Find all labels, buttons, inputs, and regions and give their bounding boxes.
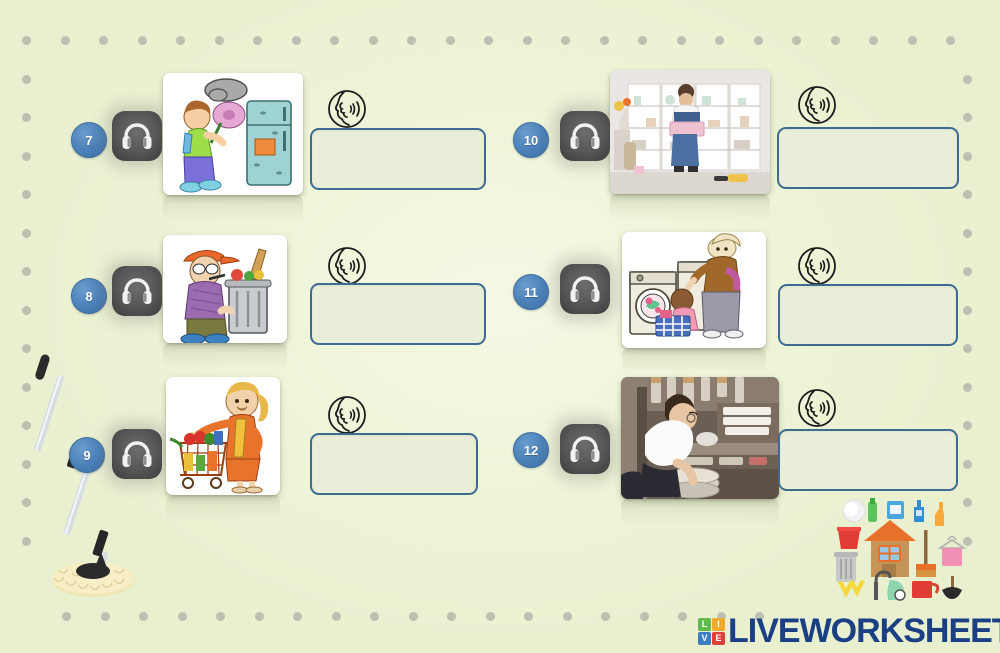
headphones-icon [122, 277, 152, 305]
exercise-number-badge: 9 [69, 437, 105, 473]
headphones-icon [570, 435, 600, 463]
border-dot-bottom [101, 612, 110, 621]
border-dot-top [369, 36, 378, 45]
border-dot-left [22, 267, 31, 276]
headphones-icon [122, 122, 152, 150]
logo-tile-i: I [712, 618, 725, 631]
picture-reflection [166, 495, 280, 521]
border-dot-bottom [178, 612, 187, 621]
border-dot-top [99, 36, 108, 45]
border-dot-left [22, 113, 31, 122]
border-dot-top [908, 36, 917, 45]
speak-answer-icon[interactable] [796, 84, 838, 126]
logo-tile-v: V [698, 632, 711, 645]
border-dot-right [963, 75, 972, 84]
border-dot-left [22, 152, 31, 161]
border-dot-top [523, 36, 532, 45]
border-dot-top [292, 36, 301, 45]
border-dot-top [946, 36, 955, 45]
exercise-number-label: 10 [524, 134, 538, 147]
border-dot-bottom [563, 612, 572, 621]
border-dot-bottom [486, 612, 495, 621]
live-tiles: L I V E [698, 618, 725, 645]
speaking-face-icon [326, 394, 368, 436]
listen-audio-button[interactable] [112, 111, 162, 161]
border-dot-bottom [216, 612, 225, 621]
exercise-number-label: 7 [85, 134, 92, 147]
exercise-picture [622, 232, 766, 348]
border-dot-right [963, 267, 972, 276]
border-dot-left [22, 229, 31, 238]
logo-wordmark: LIVEWORKSHEETS [728, 614, 1000, 648]
border-dot-top [215, 36, 224, 45]
exercise-number-label: 8 [85, 290, 92, 303]
border-dot-bottom [139, 612, 148, 621]
border-dot-right [963, 306, 972, 315]
border-dot-bottom [62, 612, 71, 621]
headphones-icon [570, 122, 600, 150]
exercise-picture [166, 377, 280, 495]
border-dot-top [792, 36, 801, 45]
border-dot-bottom [447, 612, 456, 621]
woman-pushing-shopping-cart [166, 377, 280, 495]
border-dot-top [407, 36, 416, 45]
border-dot-top [831, 36, 840, 45]
speaking-face-icon [796, 84, 838, 126]
picture-reflection [621, 499, 779, 525]
speak-answer-icon[interactable] [796, 387, 838, 429]
border-dot-right [963, 344, 972, 353]
border-dot-top [754, 36, 763, 45]
answer-input-box[interactable] [778, 284, 958, 346]
exercise-number-label: 12 [524, 444, 538, 457]
border-dot-top [869, 36, 878, 45]
picture-reflection [622, 348, 766, 374]
answer-input-box[interactable] [310, 128, 486, 190]
border-dot-bottom [370, 612, 379, 621]
border-dot-right [963, 152, 972, 161]
speak-answer-icon[interactable] [326, 245, 368, 287]
listen-audio-button[interactable] [560, 264, 610, 314]
liveworksheets-logo[interactable]: L I V E LIVEWORKSHEETS [698, 614, 1000, 648]
exercise-number-badge: 8 [71, 278, 107, 314]
picture-reflection [610, 194, 770, 220]
man-taking-out-the-trash [163, 235, 287, 343]
border-dot-bottom [409, 612, 418, 621]
border-dot-top [600, 36, 609, 45]
exercise-picture [610, 70, 770, 194]
logo-tile-e: E [712, 632, 725, 645]
boy-with-flower-and-smelly-fridge [163, 73, 303, 195]
border-dot-bottom [640, 612, 649, 621]
man-tidying-shelves [610, 70, 770, 194]
border-dot-top [138, 36, 147, 45]
border-dot-top [61, 36, 70, 45]
exercise-number-badge: 11 [513, 274, 549, 310]
border-dot-top [253, 36, 262, 45]
border-dot-top [677, 36, 686, 45]
exercise-number-badge: 12 [513, 432, 549, 468]
answer-input-box[interactable] [778, 429, 958, 491]
exercise-picture [163, 235, 287, 343]
border-dot-bottom [678, 612, 687, 621]
border-dot-top [484, 36, 493, 45]
border-dot-top [715, 36, 724, 45]
border-dot-bottom [293, 612, 302, 621]
border-dot-top [446, 36, 455, 45]
border-dot-left [22, 75, 31, 84]
woman-doing-the-laundry [622, 232, 766, 348]
border-dot-right [963, 113, 972, 122]
border-dot-right [963, 229, 972, 238]
exercise-number-label: 9 [83, 449, 90, 462]
girl-putting-away-clothes [621, 377, 779, 499]
border-dot-bottom [524, 612, 533, 621]
border-dot-top [330, 36, 339, 45]
border-dot-right [963, 383, 972, 392]
border-dot-top [561, 36, 570, 45]
speak-answer-icon[interactable] [796, 245, 838, 287]
listen-audio-button[interactable] [560, 111, 610, 161]
border-dot-top [638, 36, 647, 45]
border-dot-left [22, 190, 31, 199]
border-dot-bottom [332, 612, 341, 621]
speaking-face-icon [326, 88, 368, 130]
exercise-picture [621, 377, 779, 499]
picture-reflection [163, 343, 287, 369]
border-dot-bottom [255, 612, 264, 621]
border-dot-top [176, 36, 185, 45]
border-dot-right [963, 460, 972, 469]
border-dot-top [22, 36, 31, 45]
headphones-icon [122, 440, 152, 468]
answer-input-box[interactable] [310, 433, 478, 495]
exercise-picture [163, 73, 303, 195]
cleaning-supplies-decoration [832, 498, 970, 602]
worksheet-page: 789101112 L I V E LIVEWORKSHEETS [0, 0, 1000, 653]
listen-audio-button[interactable] [112, 429, 162, 479]
speaking-face-icon [796, 387, 838, 429]
logo-tile-l: L [698, 618, 711, 631]
speak-answer-icon[interactable] [326, 394, 368, 436]
border-dot-right [963, 421, 972, 430]
exercise-number-badge: 7 [71, 122, 107, 158]
headphones-icon [570, 275, 600, 303]
border-dot-bottom [601, 612, 610, 621]
speaking-face-icon [796, 245, 838, 287]
answer-input-box[interactable] [777, 127, 959, 189]
picture-reflection [163, 195, 303, 221]
speak-answer-icon[interactable] [326, 88, 368, 130]
listen-audio-button[interactable] [112, 266, 162, 316]
exercise-number-label: 11 [524, 286, 538, 299]
answer-input-box[interactable] [310, 283, 486, 345]
listen-audio-button[interactable] [560, 424, 610, 474]
border-dot-right [963, 190, 972, 199]
exercise-number-badge: 10 [513, 122, 549, 158]
speaking-face-icon [326, 245, 368, 287]
border-dot-left [22, 306, 31, 315]
